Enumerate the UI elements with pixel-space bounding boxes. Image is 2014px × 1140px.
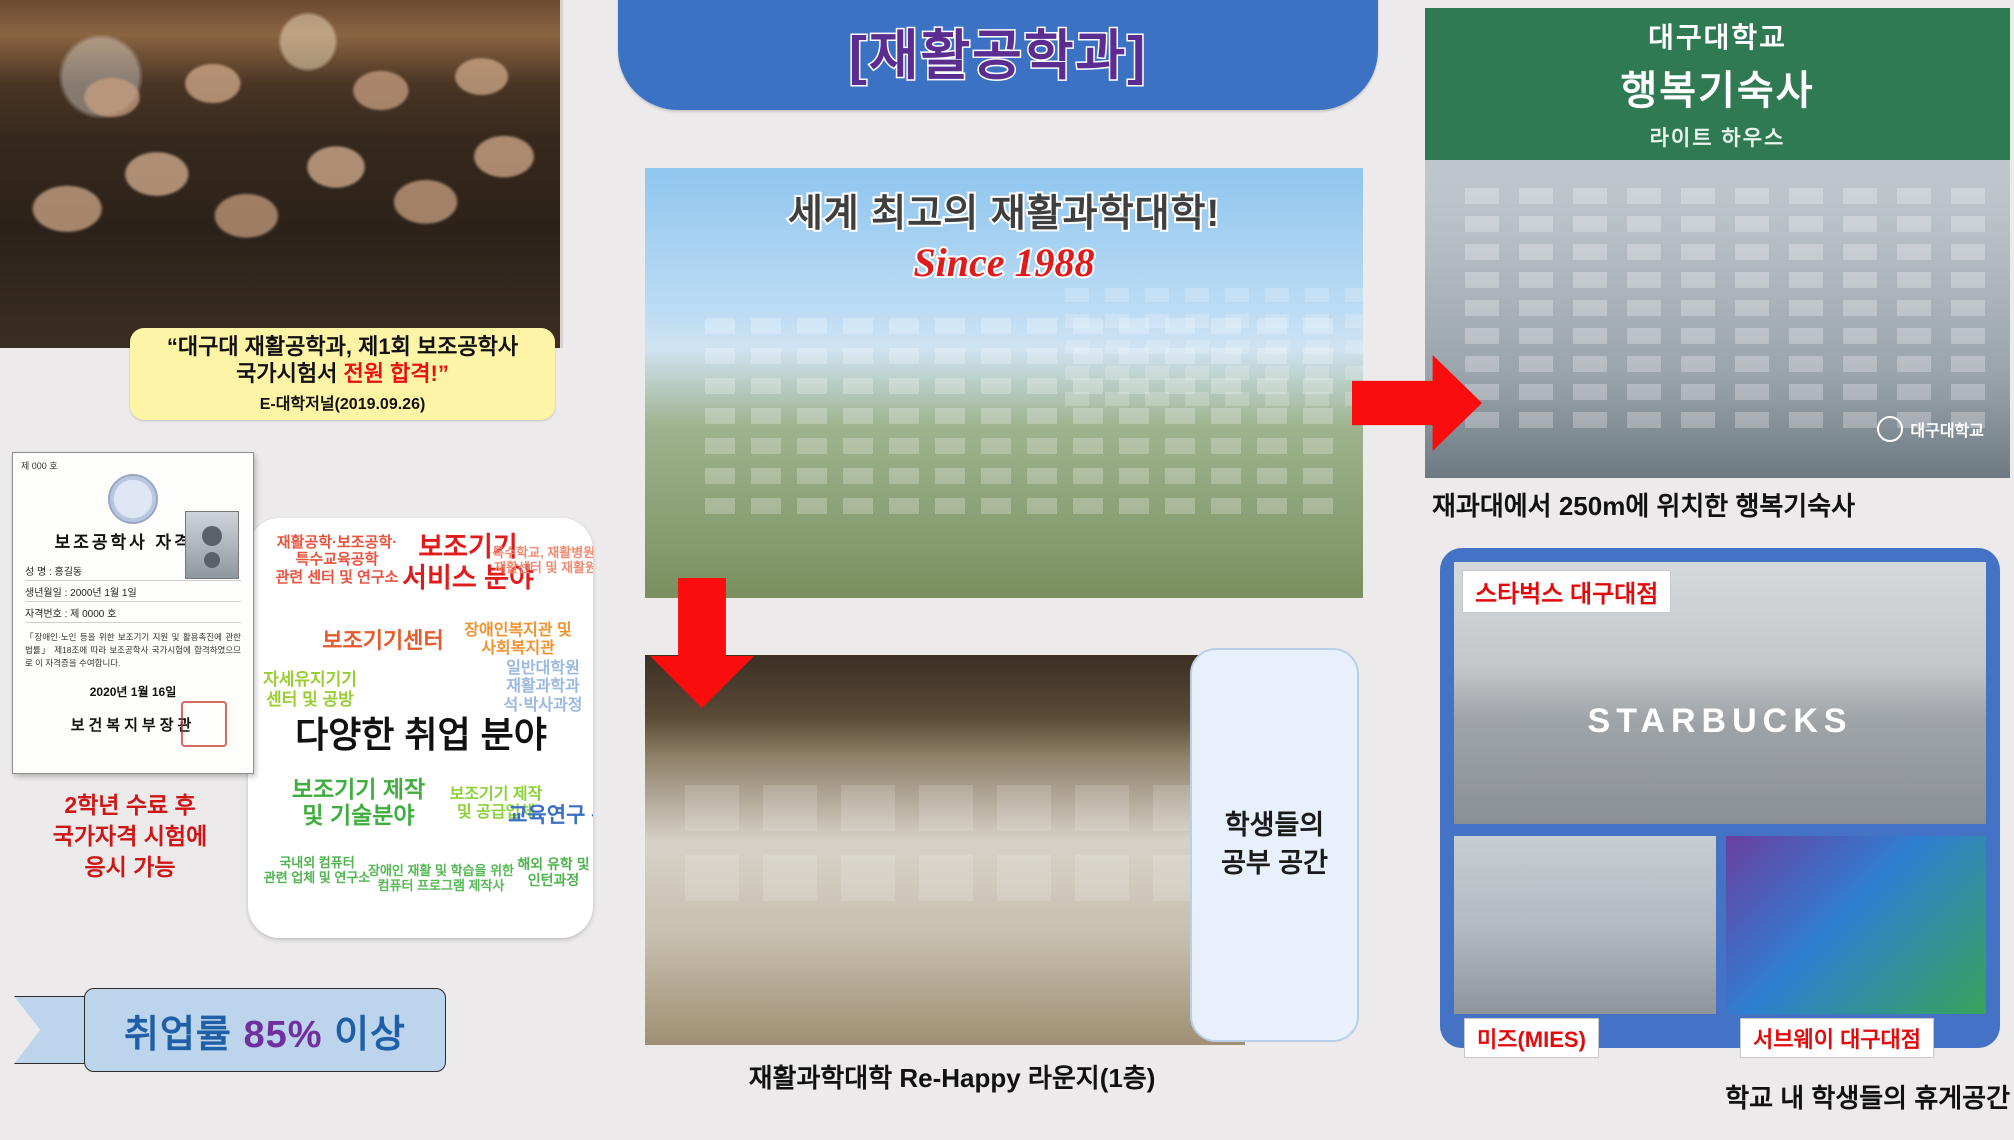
mies-store-photo — [1454, 836, 1716, 1014]
wordcloud-term: 보조기기센터 — [288, 628, 478, 653]
building-window — [1519, 328, 1553, 344]
building-window — [1027, 468, 1057, 484]
national-emblem-icon — [108, 474, 158, 524]
building-window — [889, 378, 919, 394]
building-window — [981, 378, 1011, 394]
building-window — [1681, 188, 1715, 204]
building-window — [1519, 188, 1553, 204]
study-space-callout: 학생들의 공부 공간 — [1190, 648, 1359, 1042]
building-window — [1065, 392, 1089, 406]
building-window — [935, 378, 965, 394]
wordcloud-term: 자세유지기기 센터 및 공방 — [250, 670, 370, 709]
building-window — [1211, 438, 1241, 454]
building-window — [1519, 412, 1553, 428]
building-window — [685, 785, 739, 831]
building-window — [935, 498, 965, 514]
building-window — [935, 438, 965, 454]
building-window — [1225, 392, 1249, 406]
building-window — [1065, 288, 1089, 302]
building-window — [1735, 244, 1769, 260]
wordcloud-term: 일반대학원 재활과학과 석·박사과정 — [488, 660, 593, 715]
building-window — [1735, 216, 1769, 232]
lounge-caption: 재활과학대학 Re-Happy 라운지(1층) — [672, 1058, 1232, 1095]
building-window — [1897, 328, 1931, 344]
building-window — [1897, 216, 1931, 232]
building-window — [843, 468, 873, 484]
ribbon-body: 취업률 85% 이상 — [84, 988, 446, 1072]
building-window — [1345, 340, 1363, 354]
starbucks-label: 스타벅스 대구대점 — [1462, 570, 1671, 613]
building-window — [705, 468, 735, 484]
building-window — [1951, 188, 1985, 204]
building-window — [1165, 468, 1195, 484]
building-window — [1105, 288, 1129, 302]
building-window — [1065, 366, 1089, 380]
campus-headline: 세계 최고의 재활과학대학! — [645, 182, 1363, 237]
building-window — [919, 785, 973, 831]
building-window — [1305, 366, 1329, 380]
building-window — [843, 318, 873, 334]
building-window — [889, 438, 919, 454]
building-window — [1843, 244, 1877, 260]
building-window — [797, 348, 827, 364]
building-window — [1573, 328, 1607, 344]
building-window — [1265, 340, 1289, 354]
exam-note-line1: 2학년 수료 후 — [10, 790, 250, 821]
dormitory-banner-line1: 대구대학교 — [1648, 16, 1787, 56]
wordcloud-term: 장애인복지관 및 사회복지관 — [453, 622, 583, 659]
building-window — [751, 438, 781, 454]
building-window — [1065, 314, 1089, 328]
wordcloud-term: 교육연구 분야 — [494, 804, 593, 828]
building-window — [1185, 392, 1209, 406]
building-window — [843, 438, 873, 454]
building-window — [1345, 288, 1363, 302]
building-window — [1627, 216, 1661, 232]
building-window — [1119, 408, 1149, 424]
building-window — [935, 408, 965, 424]
building-window — [751, 408, 781, 424]
building-window — [1257, 408, 1287, 424]
news-quote-highlight: 전원 합격!” — [343, 361, 448, 386]
building-window — [1573, 272, 1607, 288]
building-window — [889, 348, 919, 364]
building-window — [705, 318, 735, 334]
building-window — [1897, 356, 1931, 372]
building-window — [1185, 288, 1209, 302]
building-window — [705, 498, 735, 514]
campus-building-photo: 세계 최고의 재활과학대학! Since 1988 — [645, 168, 1363, 598]
building-window — [1735, 384, 1769, 400]
building-window — [1627, 384, 1661, 400]
building-window — [1075, 855, 1129, 901]
building-window — [1075, 785, 1129, 831]
building-window — [1519, 272, 1553, 288]
building-window — [1897, 244, 1931, 260]
building-window — [1105, 340, 1129, 354]
building-window — [1211, 498, 1241, 514]
building-window — [1897, 272, 1931, 288]
building-window — [1897, 384, 1931, 400]
building-window — [763, 785, 817, 831]
amenities-caption: 학교 내 학생들의 휴게공간 — [1560, 1078, 2010, 1115]
building-window — [1897, 300, 1931, 316]
building-window — [1105, 366, 1129, 380]
building-window — [1073, 438, 1103, 454]
employment-rate-text: 취업률 85% 이상 — [124, 1003, 406, 1058]
starbucks-sign-text: STARBUCKS — [1454, 702, 1986, 741]
building-window — [1303, 498, 1333, 514]
campus-amenities-card: STARBUCKS 스타벅스 대구대점 미즈(MIES) 서브웨이 대구대점 — [1440, 548, 2000, 1048]
exam-note-line3: 응시 가능 — [10, 852, 250, 883]
certificate-issue-date: 2020년 1월 16일 — [13, 683, 253, 700]
building-window — [1573, 384, 1607, 400]
building-window — [1027, 318, 1057, 334]
building-window — [1843, 384, 1877, 400]
ribbon-prefix: 취업률 — [124, 1014, 243, 1056]
building-window — [1789, 272, 1823, 288]
building-window — [1843, 412, 1877, 428]
building-window — [1265, 288, 1289, 302]
building-window — [705, 408, 735, 424]
building-window — [1573, 356, 1607, 372]
building-window — [1257, 438, 1287, 454]
subway-label: 서브웨이 대구대점 — [1740, 1018, 1934, 1058]
building-window — [1105, 314, 1129, 328]
building-window — [1789, 412, 1823, 428]
campus-since: Since 1988 — [645, 239, 1363, 286]
ribbon-percent: 85% — [243, 1014, 322, 1056]
building-window — [1789, 216, 1823, 232]
building-window — [997, 855, 1051, 901]
page-title-banner: [재활공학과] — [618, 0, 1378, 110]
building-window — [705, 438, 735, 454]
building-window — [797, 378, 827, 394]
building-window — [1789, 356, 1823, 372]
building-window — [1305, 392, 1329, 406]
building-window — [797, 438, 827, 454]
building-window — [841, 855, 895, 901]
building-window — [1145, 366, 1169, 380]
building-window — [1735, 412, 1769, 428]
students-group-photo — [0, 0, 563, 348]
dormitory-caption: 재과대에서 250m에 위치한 행복기숙사 — [1432, 486, 2010, 523]
building-window — [1065, 340, 1089, 354]
building-window — [1185, 366, 1209, 380]
building-window — [1465, 188, 1499, 204]
building-window — [1681, 216, 1715, 232]
building-window — [1951, 412, 1985, 428]
building-window — [1843, 328, 1877, 344]
building-window — [1211, 408, 1241, 424]
building-window — [889, 318, 919, 334]
building-window — [1225, 340, 1249, 354]
building-window — [889, 498, 919, 514]
building-window — [1465, 272, 1499, 288]
building-window — [1951, 244, 1985, 260]
building-window — [1843, 216, 1877, 232]
building-window — [1789, 300, 1823, 316]
building-window — [1843, 356, 1877, 372]
wordcloud-term: 해외 유학 및 인턴과정 — [506, 856, 593, 888]
building-window — [1073, 468, 1103, 484]
building-window — [843, 378, 873, 394]
building-window — [1681, 328, 1715, 344]
building-window — [843, 408, 873, 424]
wordcloud-center-term: 다양한 취업 분야 — [260, 714, 582, 755]
building-window — [1951, 328, 1985, 344]
building-window — [685, 855, 739, 901]
building-window — [1951, 384, 1985, 400]
study-space-text: 학생들의 공부 공간 — [1221, 807, 1328, 883]
building-window — [997, 785, 1051, 831]
building-window — [1681, 356, 1715, 372]
career-fields-wordcloud: 다양한 취업 분야재활공학·보조공학· 특수교육공학 관련 센터 및 연구소보조… — [248, 518, 593, 938]
happy-dormitory-photo: 대구대학교 행복기숙사 라이트 하우스 대구대학교 — [1425, 8, 2010, 478]
building-window — [1119, 468, 1149, 484]
building-window — [1789, 328, 1823, 344]
dormitory-banner-line2: 행복기숙사 — [1621, 58, 1815, 116]
certificate-body-text: 「장애인·노인 등을 위한 보조기기 지원 및 활용촉진에 관한 법률」 제18… — [25, 631, 241, 669]
building-window — [1225, 366, 1249, 380]
building-window — [1573, 244, 1607, 260]
wordcloud-term: 재활공학·보조공학· 특수교육공학 관련 센터 및 연구소 — [262, 534, 412, 586]
building-window — [981, 348, 1011, 364]
building-window — [935, 318, 965, 334]
rehappy-lounge-photo — [645, 655, 1245, 1045]
building-window — [1265, 314, 1289, 328]
building-window — [919, 855, 973, 901]
building-window — [797, 468, 827, 484]
dormitory-banner: 대구대학교 행복기숙사 라이트 하우스 — [1425, 8, 2010, 160]
building-window — [751, 498, 781, 514]
building-window — [1573, 412, 1607, 428]
building-window — [1303, 438, 1333, 454]
building-window — [705, 378, 735, 394]
employment-rate-ribbon: 취업률 85% 이상 — [14, 988, 444, 1070]
certificate-row: 생년월일 : 2000년 1월 1일 — [25, 584, 241, 602]
building-window — [1165, 438, 1195, 454]
building-window — [1951, 216, 1985, 232]
building-window — [841, 785, 895, 831]
building-window — [1573, 300, 1607, 316]
building-window — [1519, 216, 1553, 232]
building-window — [1681, 244, 1715, 260]
exam-eligibility-note: 2학년 수료 후 국가자격 시험에 응시 가능 — [10, 790, 250, 883]
building-window — [1519, 356, 1553, 372]
building-window — [1897, 412, 1931, 428]
building-window — [1789, 188, 1823, 204]
page-title: [재활공학과] — [849, 11, 1147, 90]
building-window — [1345, 366, 1363, 380]
campus-photo-overlay-text: 세계 최고의 재활과학대학! Since 1988 — [645, 182, 1363, 286]
building-window — [763, 855, 817, 901]
building-window — [1465, 244, 1499, 260]
building-window — [981, 408, 1011, 424]
news-source: E-대학저널(2019.09.26) — [260, 390, 426, 414]
building-window — [1073, 408, 1103, 424]
wordcloud-term: 특수학교, 재활병원, 재활센터 및 재활원 — [488, 546, 593, 576]
building-window — [1211, 468, 1241, 484]
building-window — [1027, 348, 1057, 364]
building-window — [1465, 356, 1499, 372]
building-window — [935, 348, 965, 364]
building-window — [797, 498, 827, 514]
building-window — [1145, 314, 1169, 328]
building-window — [1027, 498, 1057, 514]
building-window — [1627, 188, 1661, 204]
building-window — [1627, 412, 1661, 428]
building-window — [1465, 216, 1499, 232]
building-window — [1951, 300, 1985, 316]
building-window — [1735, 188, 1769, 204]
building-window — [1735, 300, 1769, 316]
building-window — [1105, 392, 1129, 406]
building-window — [1681, 300, 1715, 316]
assistive-technologist-certificate: 제 000 호 보조공학사 자격증 성 명 : 홍길동 생년월일 : 2000년… — [12, 452, 254, 774]
building-window — [751, 378, 781, 394]
building-window — [1073, 498, 1103, 514]
building-window — [1951, 272, 1985, 288]
building-window — [1681, 272, 1715, 288]
building-window — [1789, 244, 1823, 260]
building-window — [1789, 384, 1823, 400]
wordcloud-term: 보조기기 제작 및 기술분야 — [266, 776, 451, 829]
building-window — [1119, 438, 1149, 454]
building-window — [981, 318, 1011, 334]
news-quote-line2-plain: 국가시험서 — [236, 361, 343, 386]
building-window — [1027, 438, 1057, 454]
building-window — [889, 468, 919, 484]
certificate-portrait — [185, 511, 239, 579]
building-window — [1843, 188, 1877, 204]
building-window — [1257, 498, 1287, 514]
building-window — [843, 498, 873, 514]
building-window — [1627, 300, 1661, 316]
building-window — [1027, 408, 1057, 424]
building-window — [1345, 314, 1363, 328]
building-window — [981, 438, 1011, 454]
building-window — [1465, 328, 1499, 344]
ribbon-suffix: 이상 — [323, 1014, 406, 1056]
building-window — [1681, 384, 1715, 400]
certificate-doc-no: 제 000 호 — [13, 453, 253, 472]
building-window — [1145, 392, 1169, 406]
building-window — [1627, 356, 1661, 372]
mies-label: 미즈(MIES) — [1464, 1018, 1599, 1058]
building-window — [1735, 272, 1769, 288]
building-window — [1145, 340, 1169, 354]
building-window — [1627, 328, 1661, 344]
building-window — [797, 408, 827, 424]
building-window — [1735, 328, 1769, 344]
building-window — [1185, 314, 1209, 328]
building-window — [843, 348, 873, 364]
building-window — [981, 468, 1011, 484]
building-window — [981, 498, 1011, 514]
study-space-line2: 공부 공간 — [1221, 848, 1328, 878]
building-window — [889, 408, 919, 424]
building-window — [1519, 300, 1553, 316]
building-window — [1573, 216, 1607, 232]
building-window — [1681, 412, 1715, 428]
building-window — [1145, 288, 1169, 302]
building-window — [1303, 468, 1333, 484]
building-window — [1305, 288, 1329, 302]
building-window — [1305, 340, 1329, 354]
building-window — [751, 318, 781, 334]
building-window — [1027, 378, 1057, 394]
building-window — [1465, 300, 1499, 316]
building-window — [1165, 498, 1195, 514]
subway-store-photo — [1726, 836, 1986, 1014]
building-window — [1843, 300, 1877, 316]
building-window — [1225, 314, 1249, 328]
building-window — [1735, 356, 1769, 372]
news-quote-line2: 국가시험서 전원 합격!” — [236, 361, 449, 388]
building-window — [1627, 244, 1661, 260]
building-window — [1265, 366, 1289, 380]
building-window — [797, 318, 827, 334]
official-stamp-icon — [181, 701, 227, 747]
building-window — [1185, 340, 1209, 354]
building-window — [1951, 356, 1985, 372]
building-window — [751, 468, 781, 484]
building-window — [1573, 188, 1607, 204]
dormitory-banner-line3: 라이트 하우스 — [1650, 122, 1786, 152]
news-quote-line1: “대구대 재활공학과, 제1회 보조공학사 — [167, 334, 518, 361]
building-window — [935, 468, 965, 484]
building-window — [1225, 288, 1249, 302]
building-window — [1519, 384, 1553, 400]
building-window — [705, 348, 735, 364]
building-window — [1257, 468, 1287, 484]
building-window — [1303, 408, 1333, 424]
building-window — [1165, 408, 1195, 424]
building-window — [1305, 314, 1329, 328]
building-window — [1519, 244, 1553, 260]
building-window — [1897, 188, 1931, 204]
building-window — [1119, 498, 1149, 514]
building-window — [751, 348, 781, 364]
building-window — [1265, 392, 1289, 406]
building-window — [1627, 272, 1661, 288]
news-quote-callout: “대구대 재활공학과, 제1회 보조공학사 국가시험서 전원 합격!” E-대학… — [130, 328, 555, 420]
building-window — [1843, 272, 1877, 288]
certificate-row: 자격번호 : 제 0000 호 — [25, 605, 241, 623]
exam-note-line2: 국가자격 시험에 — [10, 821, 250, 852]
study-space-line1: 학생들의 — [1225, 810, 1324, 840]
